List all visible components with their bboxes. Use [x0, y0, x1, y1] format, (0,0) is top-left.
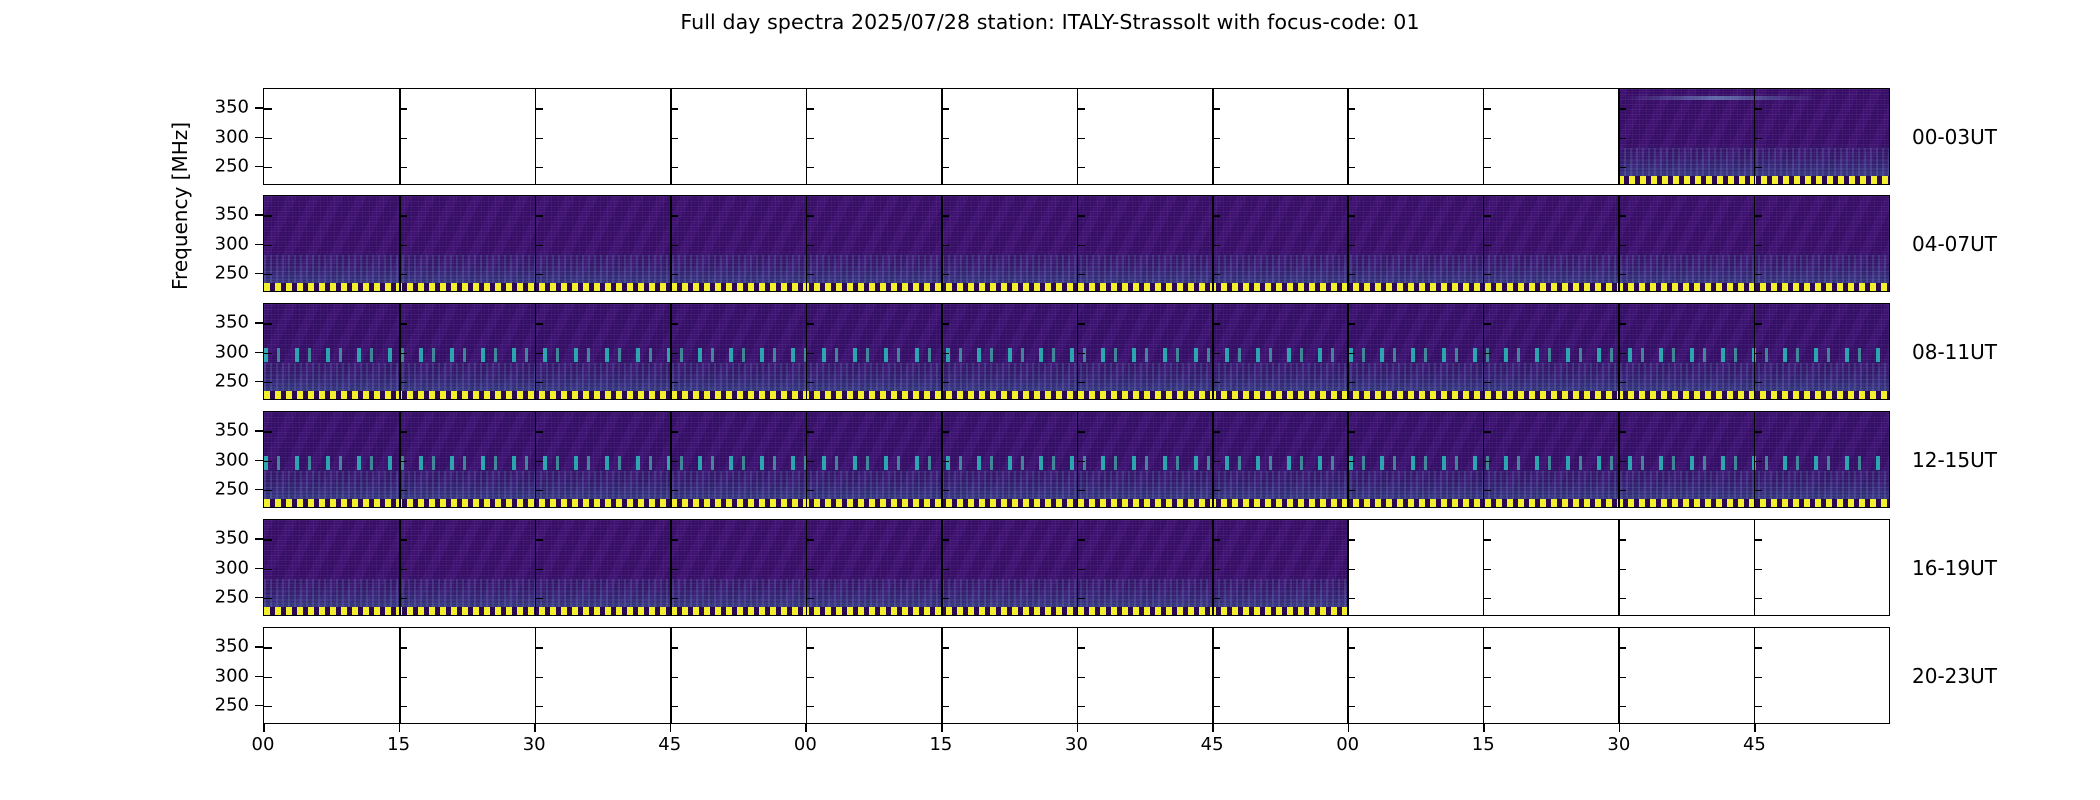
y-tick-mark [399, 647, 407, 649]
y-tick-mark [670, 539, 678, 541]
subpanel-divider [670, 89, 672, 184]
subpanel-divider [1754, 628, 1756, 723]
y-tick-mark [535, 539, 543, 541]
y-tick-mark [1077, 353, 1085, 355]
y-tick-label: 350 [215, 420, 249, 441]
y-tick-mark [1618, 539, 1626, 541]
y-tick-mark-outer [255, 460, 263, 462]
y-tick-label: 350 [215, 204, 249, 225]
y-tick-mark [1212, 353, 1220, 355]
y-tick-mark [941, 215, 949, 217]
y-tick-mark [1618, 323, 1626, 325]
subpanel-divider [1347, 89, 1349, 184]
y-tick-mark [535, 677, 543, 679]
spectrogram-row-04-07ut[interactable]: 350300250 [263, 195, 1890, 292]
y-tick-label: 250 [215, 694, 249, 715]
y-tick-mark [670, 382, 678, 384]
subpanel-divider [941, 520, 943, 615]
y-tick-mark-outer [255, 430, 263, 432]
x-tick-label: 00 [252, 734, 275, 755]
y-tick-mark [806, 108, 814, 110]
y-tick-mark [1618, 706, 1626, 708]
subpanel-divider [1077, 628, 1079, 723]
y-tick-mark [535, 245, 543, 247]
y-tick-mark [1077, 323, 1085, 325]
y-tick-mark [1483, 353, 1491, 355]
subpanel-divider [1212, 196, 1214, 291]
x-tick-mark [534, 724, 536, 732]
y-tick-mark [399, 461, 407, 463]
y-tick-label: 350 [215, 312, 249, 333]
y-tick-mark [1483, 598, 1491, 600]
y-tick-mark [806, 461, 814, 463]
y-tick-mark-outer [255, 322, 263, 324]
subpanel-divider [1754, 520, 1756, 615]
y-tick-mark [1347, 108, 1355, 110]
y-tick-mark [806, 167, 814, 169]
y-tick-mark [670, 138, 678, 140]
y-tick-mark [1754, 167, 1762, 169]
spectrogram-row-12-15ut[interactable]: 350300250 [263, 411, 1890, 508]
y-tick-mark [399, 539, 407, 541]
y-tick-mark [264, 108, 272, 110]
subpanel-divider [1483, 196, 1485, 291]
plot-area[interactable] [263, 303, 1890, 400]
subpanel-divider [1618, 196, 1620, 291]
y-tick-mark [806, 353, 814, 355]
y-tick-mark [1618, 490, 1626, 492]
y-tick-mark [1212, 274, 1220, 276]
plot-area[interactable] [263, 519, 1890, 616]
y-tick-mark [670, 353, 678, 355]
y-tick-mark [264, 569, 272, 571]
y-tick-mark [806, 490, 814, 492]
y-tick-mark [1483, 677, 1491, 679]
subpanel-divider [399, 196, 401, 291]
y-tick-mark [1077, 215, 1085, 217]
y-tick-mark [1347, 353, 1355, 355]
y-tick-label: 250 [215, 370, 249, 391]
y-tick-mark [535, 569, 543, 571]
y-tick-mark [941, 598, 949, 600]
y-tick-mark [264, 167, 272, 169]
y-tick-mark [941, 167, 949, 169]
subpanel-divider [806, 196, 808, 291]
y-tick-mark [1347, 539, 1355, 541]
y-tick-label: 250 [215, 586, 249, 607]
y-tick-mark [941, 353, 949, 355]
subpanel-divider [1618, 89, 1620, 184]
y-tick-mark [1754, 353, 1762, 355]
subpanel-divider [806, 628, 808, 723]
y-tick-mark [941, 490, 949, 492]
y-tick-mark [264, 353, 272, 355]
y-tick-mark [941, 108, 949, 110]
y-tick-mark [1483, 274, 1491, 276]
subpanel-divider [1754, 304, 1756, 399]
x-tick-label: 00 [1336, 734, 1359, 755]
subpanel-divider [1212, 304, 1214, 399]
y-tick-mark [1212, 167, 1220, 169]
y-tick-mark-outer [255, 646, 263, 648]
y-tick-mark [1212, 108, 1220, 110]
subpanel-divider [1483, 89, 1485, 184]
y-tick-mark-outer [255, 568, 263, 570]
y-tick-mark [1754, 569, 1762, 571]
y-tick-mark [1077, 245, 1085, 247]
y-tick-mark [1212, 323, 1220, 325]
spectrogram-row-20-23ut[interactable]: 350300250 [263, 627, 1890, 724]
x-tick-mark [670, 724, 672, 732]
y-tick-mark-outer [255, 107, 263, 109]
y-tick-mark-outer [255, 489, 263, 491]
y-tick-label: 250 [215, 478, 249, 499]
y-tick-mark [535, 215, 543, 217]
y-tick-mark [1077, 539, 1085, 541]
y-tick-mark [535, 647, 543, 649]
subpanel-divider [1347, 304, 1349, 399]
y-tick-mark [264, 461, 272, 463]
y-tick-mark [264, 539, 272, 541]
y-tick-mark [535, 167, 543, 169]
y-tick-mark [1077, 598, 1085, 600]
subpanel-divider [1618, 520, 1620, 615]
y-tick-mark [806, 215, 814, 217]
y-tick-mark [399, 431, 407, 433]
subpanel-divider [535, 89, 537, 184]
y-tick-mark [1754, 490, 1762, 492]
y-tick-mark [1347, 431, 1355, 433]
x-tick-label: 15 [387, 734, 410, 755]
y-tick-mark [1483, 323, 1491, 325]
y-tick-mark [941, 138, 949, 140]
spectrogram-row-16-19ut[interactable]: 350300250 [263, 519, 1890, 616]
subpanel-divider [941, 628, 943, 723]
y-tick-mark [535, 353, 543, 355]
y-tick-label: 350 [215, 528, 249, 549]
x-tick-label: 30 [1065, 734, 1088, 755]
y-tick-mark [1212, 245, 1220, 247]
y-tick-mark [1618, 598, 1626, 600]
y-tick-mark [1754, 461, 1762, 463]
y-tick-mark [535, 598, 543, 600]
y-tick-mark [941, 539, 949, 541]
y-tick-mark [941, 569, 949, 571]
y-tick-mark [1618, 108, 1626, 110]
y-tick-mark [1754, 539, 1762, 541]
y-tick-mark [399, 108, 407, 110]
y-tick-mark [941, 461, 949, 463]
y-tick-mark [1483, 108, 1491, 110]
subpanel-divider [1077, 304, 1079, 399]
y-tick-mark [1212, 138, 1220, 140]
y-tick-mark [1483, 461, 1491, 463]
y-tick-mark [941, 431, 949, 433]
row-time-label-16-19ut: 16-19UT [1912, 556, 1997, 580]
spectrogram-row-08-11ut[interactable]: 350300250 [263, 303, 1890, 400]
y-tick-label: 350 [215, 97, 249, 118]
y-tick-mark [941, 647, 949, 649]
y-tick-mark [806, 138, 814, 140]
y-tick-mark [670, 647, 678, 649]
y-tick-mark [1483, 167, 1491, 169]
y-tick-label: 300 [215, 126, 249, 147]
y-tick-label: 250 [215, 262, 249, 283]
subpanel-divider [1212, 89, 1214, 184]
y-tick-mark [535, 274, 543, 276]
subpanel-divider [941, 412, 943, 507]
y-tick-mark [1754, 598, 1762, 600]
y-tick-label: 300 [215, 557, 249, 578]
y-tick-mark [264, 245, 272, 247]
y-tick-mark [535, 323, 543, 325]
subpanel-divider [535, 628, 537, 723]
y-tick-mark [941, 706, 949, 708]
y-tick-mark [670, 677, 678, 679]
subpanel-divider [1347, 520, 1349, 615]
y-tick-mark [1077, 677, 1085, 679]
y-tick-mark [670, 431, 678, 433]
y-tick-mark [670, 274, 678, 276]
y-tick-mark [806, 647, 814, 649]
y-tick-mark [670, 167, 678, 169]
y-tick-mark [1347, 598, 1355, 600]
plot-area[interactable] [263, 627, 1890, 724]
y-tick-mark [535, 382, 543, 384]
y-tick-mark [670, 490, 678, 492]
y-tick-mark [806, 677, 814, 679]
x-tick-label: 45 [658, 734, 681, 755]
y-tick-label: 300 [215, 449, 249, 470]
y-tick-mark [941, 382, 949, 384]
y-tick-mark [1347, 382, 1355, 384]
y-tick-mark [806, 382, 814, 384]
y-tick-mark [1483, 569, 1491, 571]
y-tick-mark-outer [255, 166, 263, 168]
y-tick-mark [1618, 245, 1626, 247]
y-tick-mark [670, 569, 678, 571]
y-tick-mark-outer [255, 352, 263, 354]
subpanel-divider [941, 89, 943, 184]
spectrogram-row-00-03ut[interactable]: 350300250 [263, 88, 1890, 185]
plot-area[interactable] [263, 195, 1890, 292]
y-tick-label: 300 [215, 665, 249, 686]
y-tick-mark [264, 138, 272, 140]
y-tick-mark [399, 274, 407, 276]
y-tick-mark [1077, 706, 1085, 708]
subpanel-divider [535, 196, 537, 291]
y-tick-label: 300 [215, 341, 249, 362]
subpanel-divider [1212, 412, 1214, 507]
x-tick-mark [1348, 724, 1350, 732]
y-tick-mark [535, 461, 543, 463]
x-tick-mark [1619, 724, 1621, 732]
subpanel-divider [1483, 304, 1485, 399]
subpanel-divider [1618, 412, 1620, 507]
y-tick-mark [1347, 274, 1355, 276]
y-tick-mark [1618, 431, 1626, 433]
y-tick-mark [670, 598, 678, 600]
y-tick-mark-outer [255, 381, 263, 383]
y-tick-mark [806, 245, 814, 247]
x-tick-label: 45 [1743, 734, 1766, 755]
y-tick-mark [806, 539, 814, 541]
y-tick-mark [806, 598, 814, 600]
y-tick-mark [264, 647, 272, 649]
y-tick-mark [264, 215, 272, 217]
y-tick-mark [399, 353, 407, 355]
subpanel-divider [1618, 304, 1620, 399]
subpanel-divider [535, 520, 537, 615]
y-tick-mark [806, 323, 814, 325]
x-tick-label: 30 [1607, 734, 1630, 755]
y-axis-label: Frequency [MHz] [168, 122, 192, 290]
y-tick-mark [1212, 431, 1220, 433]
y-tick-mark [1754, 323, 1762, 325]
x-tick-mark [1483, 724, 1485, 732]
subpanel-divider [1077, 520, 1079, 615]
y-tick-mark [1618, 382, 1626, 384]
y-tick-mark [1483, 706, 1491, 708]
subpanel-divider [1347, 628, 1349, 723]
subpanel-divider [1618, 628, 1620, 723]
y-tick-mark [1077, 647, 1085, 649]
x-tick-label: 15 [929, 734, 952, 755]
y-tick-mark [1077, 108, 1085, 110]
subpanel-divider [1483, 412, 1485, 507]
subpanel-divider [941, 196, 943, 291]
subpanel-divider [1077, 196, 1079, 291]
subpanel-divider [1212, 520, 1214, 615]
subpanel-divider [535, 304, 537, 399]
x-tick-label: 15 [1472, 734, 1495, 755]
y-tick-mark [1077, 382, 1085, 384]
y-tick-mark [1754, 677, 1762, 679]
y-tick-mark [1077, 490, 1085, 492]
y-tick-mark [1347, 245, 1355, 247]
y-tick-mark [1212, 598, 1220, 600]
subpanel-divider [1754, 196, 1756, 291]
y-tick-mark [670, 245, 678, 247]
y-tick-mark [1483, 431, 1491, 433]
y-tick-label: 300 [215, 233, 249, 254]
x-tick-mark [1077, 724, 1079, 732]
y-tick-mark [1754, 138, 1762, 140]
y-tick-mark-outer [255, 214, 263, 216]
x-tick-mark [1212, 724, 1214, 732]
subpanel-divider [806, 304, 808, 399]
y-tick-mark [1077, 167, 1085, 169]
y-tick-mark [806, 274, 814, 276]
x-tick-mark [1754, 724, 1756, 732]
y-tick-mark [1754, 215, 1762, 217]
y-tick-mark [1212, 539, 1220, 541]
subpanel-divider [1483, 628, 1485, 723]
subpanel-divider [670, 628, 672, 723]
y-tick-mark [1347, 138, 1355, 140]
y-tick-mark [1212, 490, 1220, 492]
y-tick-mark [264, 431, 272, 433]
subpanel-divider [1212, 628, 1214, 723]
x-tick-label: 00 [794, 734, 817, 755]
subpanel-divider [399, 89, 401, 184]
y-tick-mark [535, 431, 543, 433]
y-tick-mark [1618, 353, 1626, 355]
y-tick-mark [806, 431, 814, 433]
y-tick-mark [670, 215, 678, 217]
y-tick-mark [1618, 677, 1626, 679]
y-tick-mark [264, 677, 272, 679]
x-tick-mark [263, 724, 265, 732]
y-tick-mark [1483, 382, 1491, 384]
y-tick-mark-outer [255, 538, 263, 540]
y-tick-mark [399, 490, 407, 492]
y-tick-mark [1618, 167, 1626, 169]
y-tick-mark [1347, 461, 1355, 463]
x-tick-mark [941, 724, 943, 732]
y-tick-mark [941, 323, 949, 325]
y-tick-mark-outer [255, 705, 263, 707]
y-tick-mark [264, 706, 272, 708]
y-tick-mark [1483, 647, 1491, 649]
plot-area[interactable] [263, 411, 1890, 508]
y-tick-mark [1618, 569, 1626, 571]
x-tick-mark [399, 724, 401, 732]
y-tick-mark [1618, 647, 1626, 649]
subpanel-divider [1754, 412, 1756, 507]
y-tick-mark [535, 108, 543, 110]
row-time-label-04-07ut: 04-07UT [1912, 232, 1997, 256]
y-tick-mark [1754, 108, 1762, 110]
y-tick-mark [1077, 274, 1085, 276]
y-tick-mark [1347, 215, 1355, 217]
y-tick-mark [1347, 569, 1355, 571]
broadband-feature [1623, 96, 1813, 100]
y-tick-mark [264, 323, 272, 325]
row-time-label-12-15ut: 12-15UT [1912, 448, 1997, 472]
y-tick-mark [1754, 647, 1762, 649]
y-tick-mark-outer [255, 597, 263, 599]
row-time-label-08-11ut: 08-11UT [1912, 340, 1997, 364]
y-tick-mark [670, 706, 678, 708]
y-tick-mark [264, 274, 272, 276]
y-tick-mark [1212, 382, 1220, 384]
subpanel-divider [1077, 412, 1079, 507]
plot-area[interactable] [263, 88, 1890, 185]
y-tick-mark [1754, 431, 1762, 433]
y-tick-mark [1077, 138, 1085, 140]
y-tick-mark [264, 382, 272, 384]
y-tick-mark [1483, 215, 1491, 217]
subpanel-divider [399, 520, 401, 615]
y-tick-mark-outer [255, 137, 263, 139]
subpanel-divider [670, 412, 672, 507]
y-tick-mark [670, 461, 678, 463]
subpanel-divider [1077, 89, 1079, 184]
y-tick-mark [670, 323, 678, 325]
subpanel-divider [806, 89, 808, 184]
y-tick-mark [1483, 245, 1491, 247]
y-tick-mark [264, 490, 272, 492]
y-tick-mark [1347, 706, 1355, 708]
subpanel-divider [1347, 196, 1349, 291]
y-tick-mark [399, 138, 407, 140]
x-tick-label: 45 [1201, 734, 1224, 755]
y-tick-mark [1618, 215, 1626, 217]
y-tick-mark [1347, 323, 1355, 325]
y-tick-mark [1754, 245, 1762, 247]
y-tick-mark [399, 167, 407, 169]
